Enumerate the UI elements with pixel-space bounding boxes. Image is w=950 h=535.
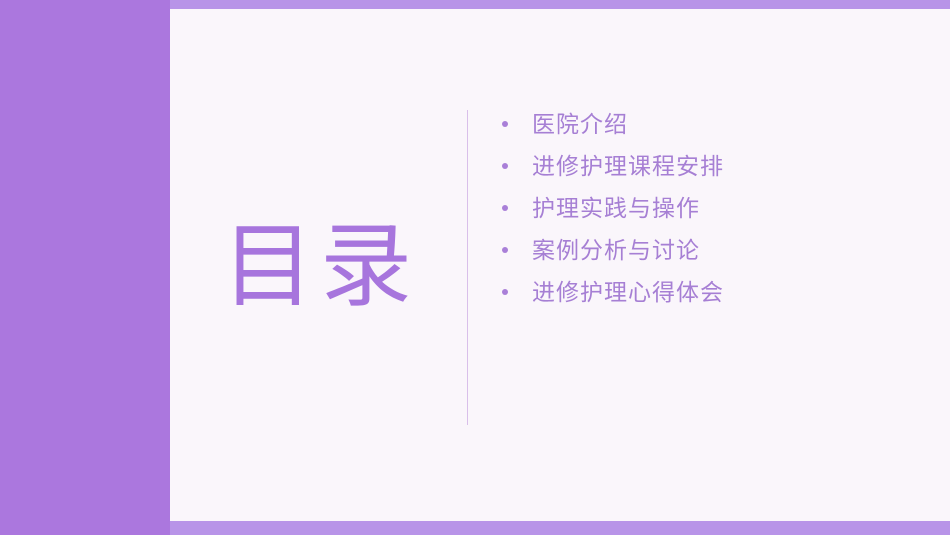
list-item[interactable]: 护理实践与操作 <box>502 187 724 229</box>
list-item[interactable]: 进修护理心得体会 <box>502 271 724 313</box>
bullet-dot-icon <box>502 289 508 295</box>
vertical-divider <box>467 110 468 425</box>
top-accent-rule <box>170 0 950 9</box>
agenda-item-label: 进修护理心得体会 <box>532 281 724 304</box>
bullet-dot-icon <box>502 205 508 211</box>
bottom-accent-rule <box>170 521 950 535</box>
page-title: 目录 <box>200 221 440 313</box>
agenda-item-label: 案例分析与讨论 <box>532 239 700 262</box>
list-item[interactable]: 案例分析与讨论 <box>502 229 724 271</box>
agenda-list: 医院介绍 进修护理课程安排 护理实践与操作 案例分析与讨论 进修护理心得体会 <box>502 103 724 313</box>
agenda-item-label: 护理实践与操作 <box>532 197 700 220</box>
bullet-dot-icon <box>502 163 508 169</box>
list-item[interactable]: 医院介绍 <box>502 103 724 145</box>
presentation-slide: 目录 医院介绍 进修护理课程安排 护理实践与操作 案例分析与讨论 进修护理心得体… <box>0 0 950 535</box>
agenda-item-label: 医院介绍 <box>532 113 628 136</box>
bullet-dot-icon <box>502 121 508 127</box>
left-accent-band <box>0 0 170 535</box>
bullet-dot-icon <box>502 247 508 253</box>
agenda-item-label: 进修护理课程安排 <box>532 155 724 178</box>
list-item[interactable]: 进修护理课程安排 <box>502 145 724 187</box>
